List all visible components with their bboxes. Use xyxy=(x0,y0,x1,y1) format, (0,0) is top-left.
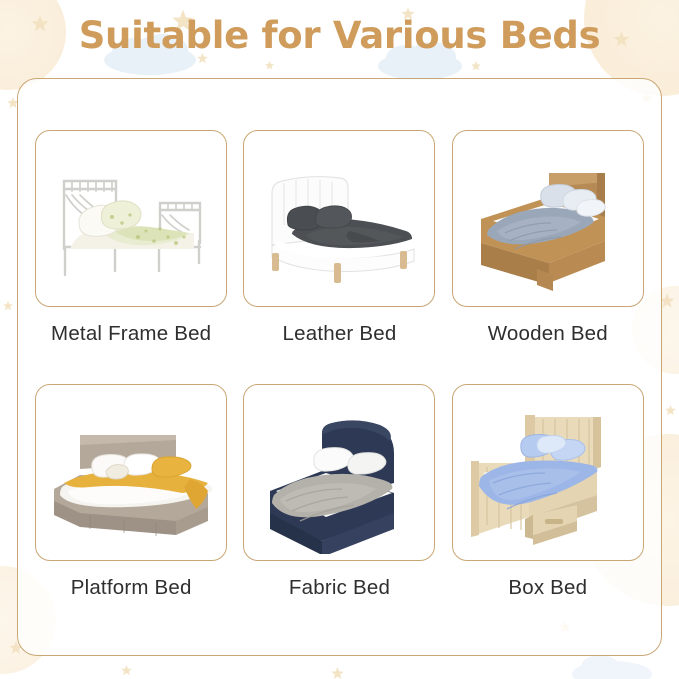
page-title: Suitable for Various Beds xyxy=(0,14,679,57)
bed-card-platform-bed[interactable] xyxy=(35,384,227,561)
bed-cell-platform-bed[interactable]: Platform Bed xyxy=(27,384,235,638)
box-bed-illustration xyxy=(459,391,637,554)
bed-label-metal-frame-bed: Metal Frame Bed xyxy=(51,322,211,346)
bed-label-platform-bed: Platform Bed xyxy=(71,576,192,600)
bed-card-wooden-bed[interactable] xyxy=(452,130,644,307)
bed-card-leather-bed[interactable] xyxy=(243,130,435,307)
bed-card-box-bed[interactable] xyxy=(452,384,644,561)
metal-frame-bed-illustration xyxy=(42,137,220,300)
bed-cell-box-bed[interactable]: Box Bed xyxy=(444,384,652,638)
bed-cell-wooden-bed[interactable]: Wooden Bed xyxy=(444,130,652,384)
wooden-bed-illustration xyxy=(459,137,637,300)
bed-card-metal-frame-bed[interactable] xyxy=(35,130,227,307)
bed-label-fabric-bed: Fabric Bed xyxy=(289,576,390,600)
bed-label-wooden-bed: Wooden Bed xyxy=(488,322,608,346)
bed-type-grid: Metal Frame Bed xyxy=(17,78,662,656)
platform-bed-illustration xyxy=(42,391,220,554)
leather-bed-illustration xyxy=(250,137,428,300)
bed-cell-metal-frame-bed[interactable]: Metal Frame Bed xyxy=(27,130,235,384)
bed-cell-leather-bed[interactable]: Leather Bed xyxy=(235,130,443,384)
fabric-bed-illustration xyxy=(250,391,428,554)
bed-card-fabric-bed[interactable] xyxy=(243,384,435,561)
bed-label-box-bed: Box Bed xyxy=(508,576,587,600)
bed-label-leather-bed: Leather Bed xyxy=(283,322,397,346)
bed-cell-fabric-bed[interactable]: Fabric Bed xyxy=(235,384,443,638)
